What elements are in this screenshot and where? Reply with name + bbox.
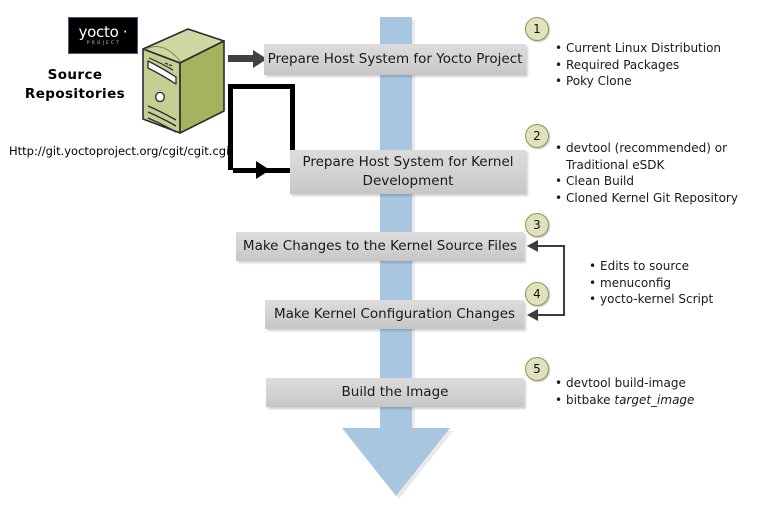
list-item: Clean Build [566, 173, 753, 190]
step-1-notes: Current Linux Distribution Required Pack… [553, 40, 758, 90]
source-repositories-label: Source Repositories [15, 66, 135, 104]
step-box-2[interactable]: Prepare Host System for Kernel Developme… [290, 150, 526, 194]
server-icon [136, 27, 228, 137]
list-item: Poky Clone [566, 73, 758, 90]
connector-elbow-left-stub [228, 84, 233, 170]
source-label-line1: Source [15, 66, 135, 85]
step-box-5[interactable]: Build the Image [266, 378, 524, 407]
step-number-4: 4 [525, 282, 549, 306]
step-number-5: 5 [525, 357, 549, 381]
diagram-canvas: yocto · PROJECT Source Repositories Http… [0, 0, 769, 517]
bracket-arrowhead-step3 [527, 240, 538, 252]
source-label-line2: Repositories [15, 85, 135, 104]
step-number-2: 2 [525, 124, 549, 148]
bracket-top-horizontal-34 [536, 245, 564, 247]
connector-server-to-step2-arrowhead [256, 161, 270, 179]
step-2-notes: devtool (recommended) or Traditional eSD… [553, 140, 753, 206]
yocto-logo-wordmark: yocto · [79, 25, 128, 40]
list-item: devtool (recommended) or Traditional eSD… [566, 140, 753, 173]
step-number-1: 1 [525, 17, 549, 41]
connector-server-to-step2-h1 [228, 84, 295, 89]
list-item: yocto-kernel Script [600, 291, 757, 308]
source-repositories-url: Http://git.yoctoproject.org/cgit/cgit.cg… [9, 144, 229, 158]
flow-band [380, 17, 412, 431]
list-item: devtool build-image [566, 375, 753, 392]
bracket-bottom-horizontal-34 [536, 314, 564, 316]
bitbake-command: bitbake [566, 393, 614, 407]
list-item: Cloned Kernel Git Repository [566, 190, 753, 207]
list-item: Current Linux Distribution [566, 40, 758, 57]
list-item-bitbake: bitbake target_image [566, 392, 753, 409]
yocto-logo: yocto · PROJECT [68, 17, 138, 54]
yocto-logo-subtext: PROJECT [87, 42, 121, 47]
step-box-1[interactable]: Prepare Host System for Yocto Project [264, 44, 526, 75]
steps-3-4-notes: Edits to source menuconfig yocto-kernel … [587, 258, 757, 308]
list-item: menuconfig [600, 275, 757, 292]
bitbake-target-arg: target_image [614, 393, 694, 407]
list-item: Required Packages [566, 57, 758, 74]
list-item: Edits to source [600, 258, 757, 275]
flow-arrow-head [342, 428, 450, 496]
bracket-arrowhead-step4 [527, 309, 538, 321]
step-number-3: 3 [525, 213, 549, 237]
connector-server-to-step1 [228, 55, 256, 62]
step-box-4[interactable]: Make Kernel Configuration Changes [265, 300, 524, 329]
step-5-notes: devtool build-image bitbake target_image [553, 375, 753, 408]
step-box-3[interactable]: Make Changes to the Kernel Source Files [236, 232, 524, 261]
bracket-vertical-34 [563, 245, 565, 316]
